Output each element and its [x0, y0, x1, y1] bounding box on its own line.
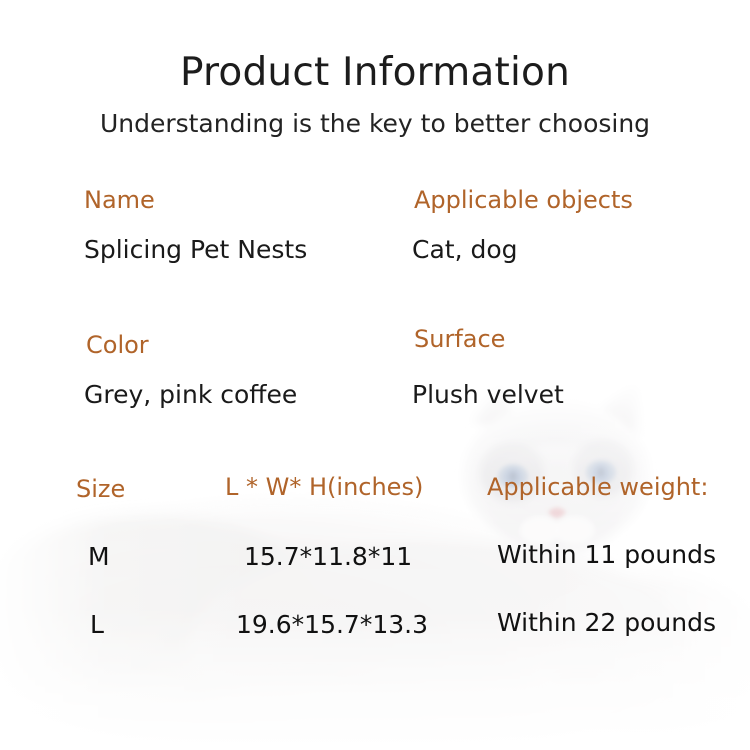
table-row-dimensions-m: 15.7*11.8*11 [244, 541, 412, 573]
spec-value-name: Splicing Pet Nests [84, 234, 307, 266]
page-subtitle: Understanding is the key to better choos… [0, 108, 750, 140]
table-row-weight-m: Within 11 pounds [497, 539, 716, 571]
spec-label-surface: Surface [414, 324, 505, 354]
size-table-header-dimensions: L * W* H(inches) [225, 472, 423, 502]
spec-value-applicable-objects: Cat, dog [412, 234, 518, 266]
table-row-weight-l: Within 22 pounds [497, 607, 716, 639]
table-row-size-m: M [88, 541, 110, 573]
product-information-page: Product Information Understanding is the… [0, 0, 750, 750]
spec-label-applicable-objects: Applicable objects [414, 185, 633, 215]
spec-value-surface: Plush velvet [412, 379, 564, 411]
page-title: Product Information [0, 50, 750, 96]
spec-value-color: Grey, pink coffee [84, 379, 297, 411]
table-row-dimensions-l: 19.6*15.7*13.3 [236, 609, 428, 641]
spec-label-name: Name [84, 185, 155, 215]
table-row-size-l: L [90, 609, 104, 641]
spec-label-color: Color [86, 330, 149, 360]
size-table-header-size: Size [76, 474, 125, 504]
size-table-header-weight: Applicable weight: [487, 472, 708, 502]
